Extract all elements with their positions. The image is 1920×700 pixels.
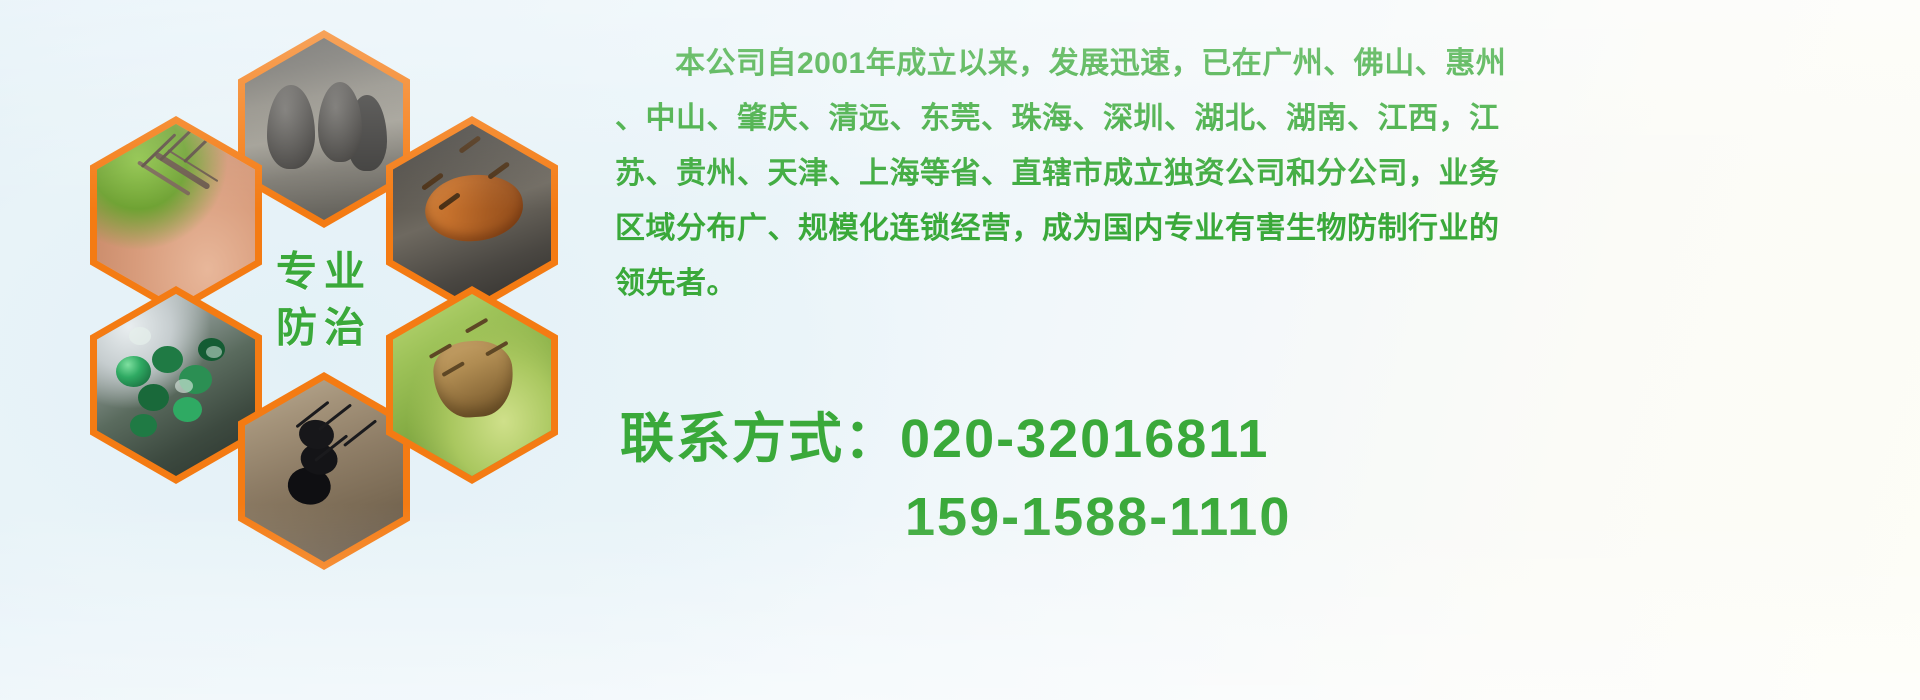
slogan-line-2: 防治 <box>238 300 410 356</box>
hex-photo-rats <box>238 30 410 228</box>
company-intro-block: 本公司自2001年成立以来，发展迅速，已在广州、佛山、惠州 、中山、肇庆、清远、… <box>615 36 1905 311</box>
slogan-line-1: 专业 <box>238 244 410 300</box>
intro-line-5: 领先者。 <box>615 256 1905 311</box>
intro-line-3: 苏、贵州、天津、上海等省、直辖市成立独资公司和分公司，业务 <box>615 146 1905 201</box>
hex-photo-stinkbug <box>386 286 558 484</box>
hex-slogan-center: 专业 防治 <box>238 201 410 399</box>
mosquito-photo <box>97 124 255 306</box>
contact-phone-secondary[interactable]: 159-1588-1110 <box>620 478 1910 556</box>
contact-block: 联系方式：020-32016811 159-1588-1110 <box>620 400 1910 556</box>
flies-photo <box>97 294 255 476</box>
rats-photo <box>245 38 403 220</box>
slogan-block: 专业 防治 <box>238 244 410 356</box>
cockroach-photo <box>393 124 551 306</box>
hex-photo-flies <box>90 286 262 484</box>
contact-phone-primary[interactable]: 联系方式：020-32016811 <box>620 400 1910 478</box>
hex-photo-mosquito <box>90 116 262 314</box>
hex-photo-ant <box>238 372 410 570</box>
stinkbug-photo <box>393 294 551 476</box>
intro-line-1: 本公司自2001年成立以来，发展迅速，已在广州、佛山、惠州 <box>615 36 1905 91</box>
honeycomb-photo-cluster: 专业 防治 <box>90 8 590 578</box>
intro-line-1-text: 本公司自2001年成立以来，发展迅速，已在广州、佛山、惠州 <box>675 47 1506 80</box>
ant-photo <box>245 380 403 562</box>
pest-control-banner: 专业 防治 本公司自2001年成立以来，发展迅速，已在广州、佛山、惠州 、中山、… <box>0 0 1920 700</box>
intro-line-2: 、中山、肇庆、清远、东莞、珠海、深圳、湖北、湖南、江西，江 <box>615 91 1905 146</box>
intro-line-4: 区域分布广、规模化连锁经营，成为国内专业有害生物防制行业的 <box>615 201 1905 256</box>
hex-photo-cockroach <box>386 116 558 314</box>
